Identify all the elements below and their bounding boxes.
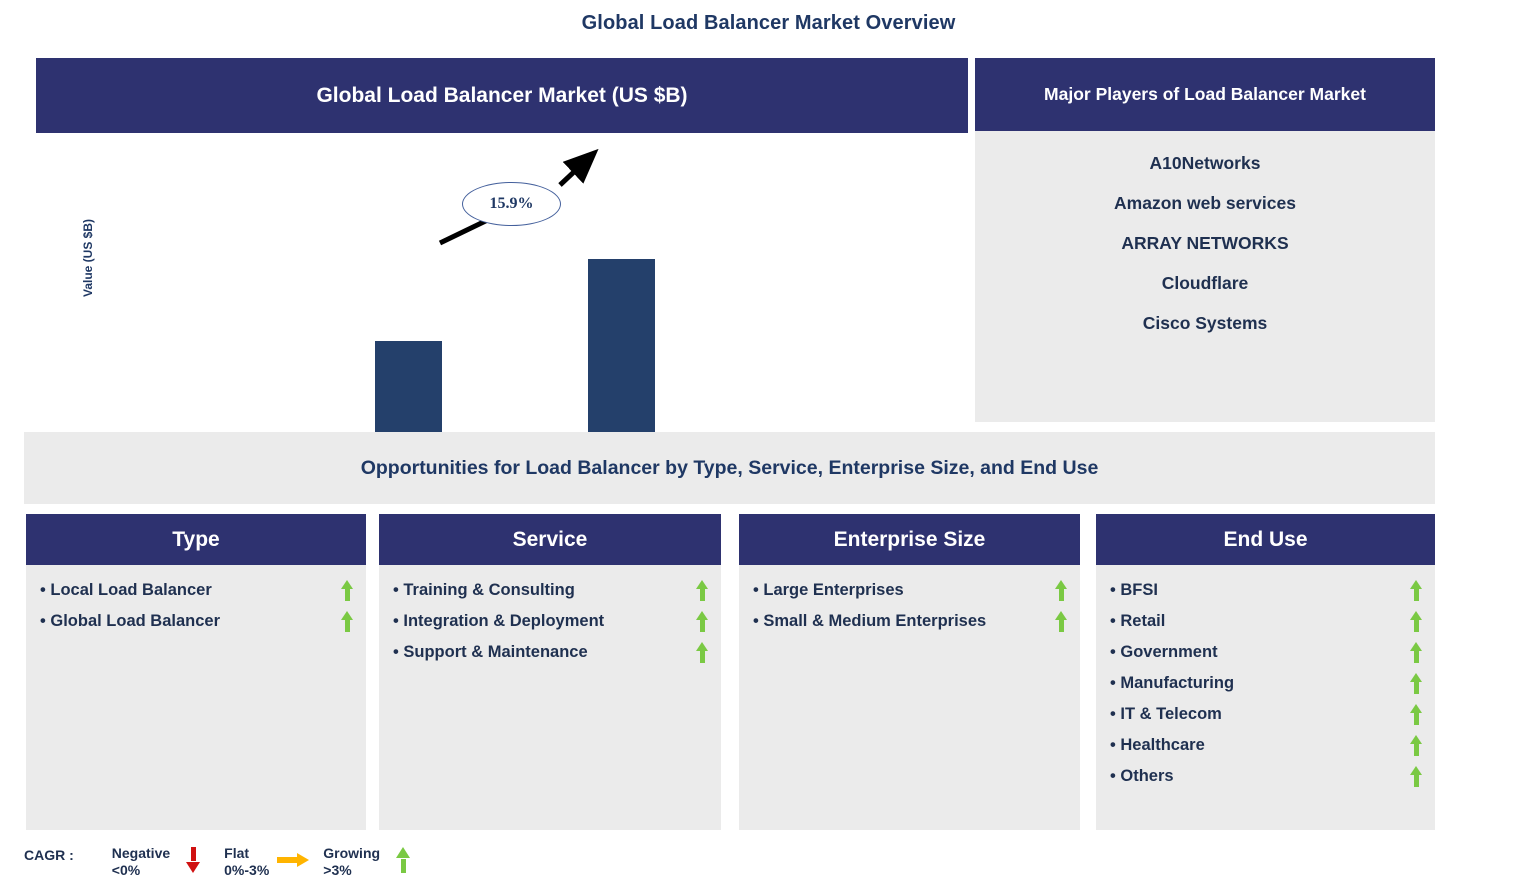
list-item: Large Enterprises: [747, 575, 1072, 606]
opportunity-columns: Type Local Load Balancer Global Load Bal…: [26, 514, 1435, 830]
column-header: Enterprise Size: [739, 514, 1080, 565]
legend-entry-range: <0%: [112, 862, 170, 879]
list-item: Healthcare: [1104, 730, 1427, 761]
column-enterprise-size: Enterprise Size Large Enterprises Small …: [739, 514, 1080, 830]
arrow-up-icon: [341, 611, 354, 632]
cagr-legend-title: CAGR :: [24, 845, 74, 863]
infographic-page: Global Load Balancer Market Overview Glo…: [0, 0, 1537, 892]
arrow-down-icon: [176, 845, 210, 883]
list-item-label: Healthcare: [1110, 736, 1205, 755]
list-item: Amazon web services: [975, 193, 1435, 214]
arrow-right-icon: [275, 845, 309, 883]
list-item-label: Integration & Deployment: [393, 612, 604, 631]
market-chart-body: Value (US $B) 15.9% 2025 2031 Source : L…: [36, 133, 968, 422]
arrow-up-icon: [1410, 704, 1423, 725]
list-item: Government: [1104, 637, 1427, 668]
list-item: Global Load Balancer: [34, 606, 358, 637]
column-end-use: End Use BFSI Retail Government Manufactu…: [1096, 514, 1435, 830]
legend-entry-negative: Negative <0%: [112, 845, 210, 883]
cagr-arrow-icon: [36, 133, 968, 422]
major-players-header: Major Players of Load Balancer Market: [975, 58, 1435, 131]
list-item: A10Networks: [975, 153, 1435, 174]
list-item-label: Government: [1110, 643, 1218, 662]
arrow-up-icon: [1055, 580, 1068, 601]
column-body: Local Load Balancer Global Load Balancer: [26, 565, 366, 830]
market-chart-header: Global Load Balancer Market (US $B): [36, 58, 968, 133]
list-item: Small & Medium Enterprises: [747, 606, 1072, 637]
arrow-up-icon: [341, 580, 354, 601]
column-header: Service: [379, 514, 721, 565]
legend-entry-flat: Flat 0%-3%: [224, 845, 309, 883]
list-item-label: Global Load Balancer: [40, 612, 220, 631]
cagr-legend: CAGR : Negative <0% Flat 0%-3% Growing: [24, 845, 434, 890]
column-type: Type Local Load Balancer Global Load Bal…: [26, 514, 366, 830]
column-body: Large Enterprises Small & Medium Enterpr…: [739, 565, 1080, 830]
major-players-list: A10Networks Amazon web services ARRAY NE…: [975, 131, 1435, 334]
legend-entry-name: Flat: [224, 845, 249, 861]
column-header: Type: [26, 514, 366, 565]
column-service: Service Training & Consulting Integratio…: [379, 514, 721, 830]
opportunities-banner: Opportunities for Load Balancer by Type,…: [24, 432, 1435, 504]
legend-entry-text: Negative <0%: [112, 845, 170, 879]
list-item: Cisco Systems: [975, 313, 1435, 334]
arrow-up-icon: [386, 845, 420, 883]
list-item: Manufacturing: [1104, 668, 1427, 699]
arrow-up-icon: [1410, 766, 1423, 787]
arrow-up-icon: [1410, 611, 1423, 632]
list-item-label: Local Load Balancer: [40, 581, 212, 600]
legend-entry-name: Negative: [112, 845, 170, 861]
legend-entry-range: >3%: [323, 862, 380, 879]
arrow-up-icon: [696, 580, 709, 601]
page-title: Global Load Balancer Market Overview: [0, 12, 1537, 35]
list-item: Retail: [1104, 606, 1427, 637]
legend-entry-name: Growing: [323, 845, 380, 861]
list-item-label: Retail: [1110, 612, 1165, 631]
list-item: Integration & Deployment: [387, 606, 713, 637]
list-item: IT & Telecom: [1104, 699, 1427, 730]
list-item-label: Training & Consulting: [393, 581, 575, 600]
list-item-label: Others: [1110, 767, 1174, 786]
list-item-label: IT & Telecom: [1110, 705, 1222, 724]
list-item: Local Load Balancer: [34, 575, 358, 606]
list-item-label: Large Enterprises: [753, 581, 904, 600]
arrow-up-icon: [696, 611, 709, 632]
arrow-up-icon: [1410, 642, 1423, 663]
arrow-up-icon: [1055, 611, 1068, 632]
legend-entry-growing: Growing >3%: [323, 845, 420, 883]
legend-entry-text: Flat 0%-3%: [224, 845, 269, 879]
arrow-up-icon: [696, 642, 709, 663]
major-players-panel: Major Players of Load Balancer Market A1…: [975, 58, 1435, 422]
list-item-label: BFSI: [1110, 581, 1158, 600]
cagr-callout-bubble: 15.9%: [462, 182, 561, 226]
arrow-up-icon: [1410, 673, 1423, 694]
column-header: End Use: [1096, 514, 1435, 565]
list-item: Support & Maintenance: [387, 637, 713, 668]
column-body: BFSI Retail Government Manufacturing IT …: [1096, 565, 1435, 830]
list-item: ARRAY NETWORKS: [975, 233, 1435, 254]
list-item: BFSI: [1104, 575, 1427, 606]
arrow-up-icon: [1410, 580, 1423, 601]
list-item-label: Small & Medium Enterprises: [753, 612, 986, 631]
market-chart-panel: Global Load Balancer Market (US $B) Valu…: [36, 58, 968, 422]
opportunities-banner-text: Opportunities for Load Balancer by Type,…: [361, 457, 1099, 480]
list-item-label: Support & Maintenance: [393, 643, 588, 662]
arrow-up-icon: [1410, 735, 1423, 756]
list-item: Training & Consulting: [387, 575, 713, 606]
legend-entry-text: Growing >3%: [323, 845, 380, 879]
list-item-label: Manufacturing: [1110, 674, 1234, 693]
list-item: Others: [1104, 761, 1427, 792]
legend-entry-range: 0%-3%: [224, 862, 269, 879]
column-body: Training & Consulting Integration & Depl…: [379, 565, 721, 830]
list-item: Cloudflare: [975, 273, 1435, 294]
